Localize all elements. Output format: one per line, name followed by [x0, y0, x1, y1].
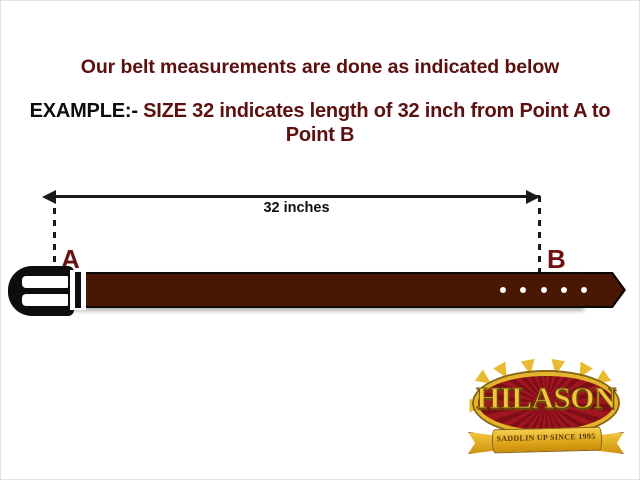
buckle-window-top	[22, 276, 68, 288]
hilason-logo: HILASON SADDLIN UP SINCE 1995	[462, 368, 630, 468]
example-label: EXAMPLE:-	[30, 100, 138, 122]
belt-tip	[582, 272, 626, 308]
belt-hole-5	[581, 287, 587, 293]
belt-size-diagram-canvas: Our belt measurements are done as indica…	[0, 0, 640, 480]
belt-illustration	[0, 260, 640, 324]
belt-hole-4	[561, 287, 567, 293]
dimension-label: 32 inches	[53, 200, 540, 216]
buckle-frame	[8, 266, 74, 316]
example-statement: EXAMPLE:- SIZE 32 indicates length of 32…	[0, 100, 640, 147]
buckle-window-bottom	[22, 294, 68, 306]
belt-hole-2	[520, 287, 526, 293]
logo-banner: SADDLIN UP SINCE 1995	[468, 426, 624, 456]
page-title: Our belt measurements are done as indica…	[0, 56, 640, 79]
belt-keeper-bar	[75, 272, 81, 308]
logo-wordmark: HILASON	[474, 382, 618, 413]
belt-buckle	[8, 266, 74, 316]
belt-hole-3	[541, 287, 547, 293]
example-description: SIZE 32 indicates length of 32 inch from…	[138, 100, 616, 146]
dimension-line	[53, 195, 540, 198]
belt-hole-1	[500, 287, 506, 293]
